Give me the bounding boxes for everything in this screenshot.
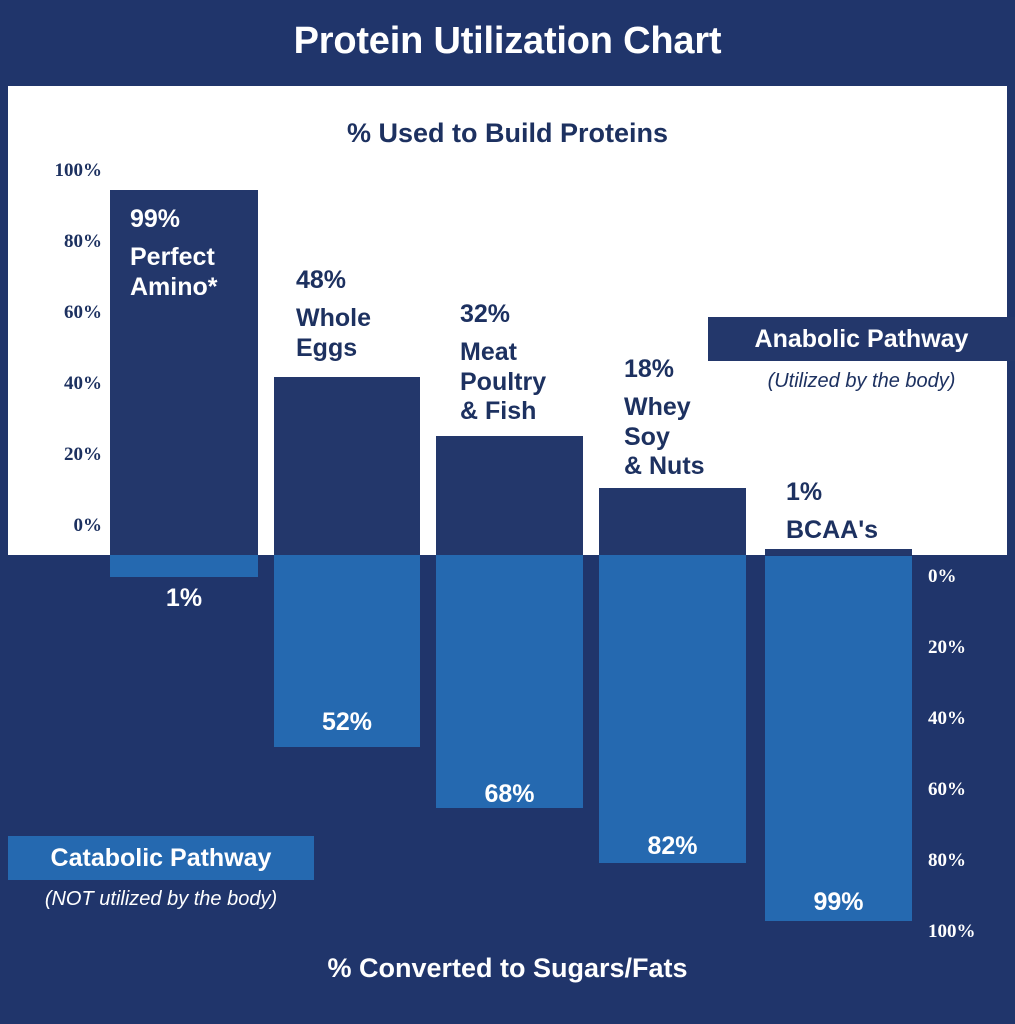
bar-value-bottom-perfect-amino: 1% xyxy=(110,584,258,613)
y-axis-left-tick-80: 80% xyxy=(30,231,102,253)
y-axis-left-tick-20: 20% xyxy=(30,444,102,466)
title-bar: Protein Utilization Chart xyxy=(0,0,1015,82)
y-axis-right-tick-20: 20% xyxy=(928,637,1008,659)
bar-bottom-bcaas[interactable] xyxy=(765,556,912,921)
y-axis-right-tick-80: 80% xyxy=(928,850,1008,872)
y-axis-right-tick-100: 100% xyxy=(928,921,1008,943)
bar-value-bottom-meat-poultry-fish: 68% xyxy=(436,780,583,809)
catabolic-pathway-label: Catabolic Pathway xyxy=(51,844,272,873)
catabolic-pathway-badge: Catabolic Pathway xyxy=(8,836,314,880)
chart-canvas: Protein Utilization Chart % Used to Buil… xyxy=(0,0,1015,1024)
bar-value-bottom-bcaas: 99% xyxy=(765,888,912,917)
anabolic-pathway-label: Anabolic Pathway xyxy=(755,325,969,354)
top-subtitle: % Used to Build Proteins xyxy=(8,118,1007,149)
anabolic-pathway-badge: Anabolic Pathway xyxy=(708,317,1015,361)
catabolic-pathway-caption: (NOT utilized by the body) xyxy=(8,888,314,911)
y-axis-left-tick-100: 100% xyxy=(30,160,102,182)
bottom-subtitle: % Converted to Sugars/Fats xyxy=(0,953,1015,984)
y-axis-right-tick-40: 40% xyxy=(928,708,1008,730)
bar-top-whole-eggs[interactable] xyxy=(274,377,420,555)
y-axis-right-tick-0: 0% xyxy=(928,566,1008,588)
y-axis-left-tick-0: 0% xyxy=(30,515,102,537)
bar-bottom-whey-soy-nuts[interactable] xyxy=(599,555,746,863)
y-axis-left-tick-60: 60% xyxy=(30,302,102,324)
bar-value-bottom-whole-eggs: 52% xyxy=(274,708,420,737)
bar-bottom-perfect-amino[interactable] xyxy=(110,555,258,577)
page-title: Protein Utilization Chart xyxy=(294,20,722,63)
bar-top-bcaas[interactable] xyxy=(765,549,912,555)
bar-bottom-meat-poultry-fish[interactable] xyxy=(436,555,583,808)
bar-top-whey-soy-nuts[interactable] xyxy=(599,488,746,555)
y-axis-left-tick-40: 40% xyxy=(30,373,102,395)
bar-value-bottom-whey-soy-nuts: 82% xyxy=(599,832,746,861)
anabolic-pathway-caption: (Utilized by the body) xyxy=(708,370,1015,393)
y-axis-right-tick-60: 60% xyxy=(928,779,1008,801)
bar-top-perfect-amino[interactable] xyxy=(110,190,258,555)
bar-top-meat-poultry-fish[interactable] xyxy=(436,436,583,555)
